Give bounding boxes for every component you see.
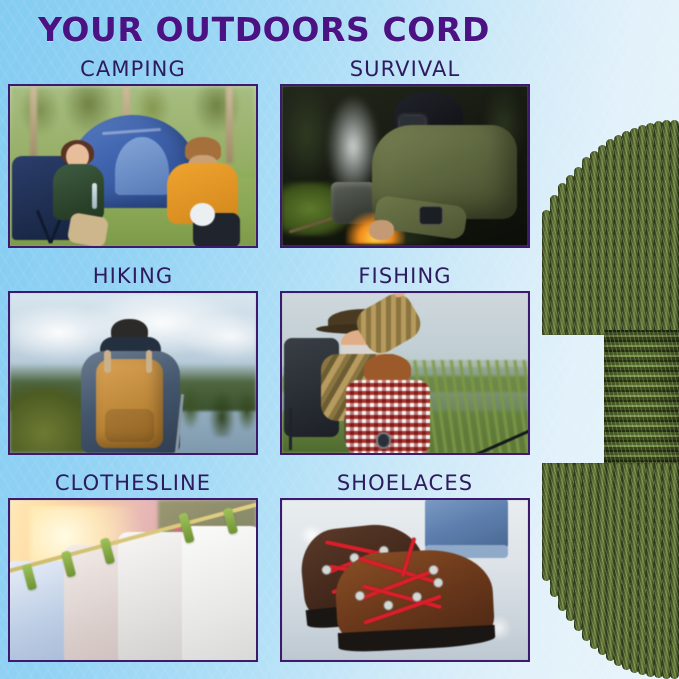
- cord-strands-bottom: [542, 463, 679, 679]
- use-label-camping: CAMPING: [8, 55, 258, 84]
- uses-row: HIKING: [0, 262, 534, 469]
- use-card-fishing: FISHING: [280, 262, 530, 469]
- boot-eyelet: [433, 578, 444, 589]
- survivalist-hand: [369, 220, 394, 240]
- boot-eyelet: [411, 592, 422, 603]
- camp-plate: [190, 203, 215, 227]
- woman-leg: [67, 212, 109, 248]
- photo-fishing: [280, 291, 530, 455]
- boot-eyelet: [355, 591, 366, 602]
- use-label-survival: SURVIVAL: [280, 55, 530, 84]
- backpack-strap: [104, 350, 111, 373]
- bottle: [92, 183, 97, 209]
- uses-row: CAMPING: [0, 55, 534, 262]
- camper-man: [167, 137, 241, 246]
- cord-coil: [604, 330, 679, 467]
- boot-eyelet: [383, 601, 394, 612]
- photo-clothesline: [8, 498, 258, 662]
- survivalist: [366, 92, 523, 242]
- tent-door: [115, 137, 169, 195]
- uses-column: YOUR OUTDOORS CORD CAMPING: [0, 0, 534, 679]
- backpack-strap: [146, 350, 153, 373]
- use-card-clothesline: CLOTHESLINE: [8, 469, 258, 676]
- camper-woman: [49, 144, 108, 243]
- uses-row: CLOTHESLINE: [0, 469, 534, 676]
- paracord-hank: [542, 0, 679, 679]
- boot-eyelet: [429, 565, 440, 576]
- hanging-laundry: [182, 526, 258, 662]
- product-infographic: YOUR OUTDOORS CORD CAMPING: [0, 0, 679, 679]
- cord-strands-top: [542, 120, 679, 335]
- page-title: YOUR OUTDOORS CORD: [0, 10, 528, 49]
- backpack-pocket: [105, 409, 153, 443]
- boy: [346, 354, 430, 453]
- use-card-shoelaces: SHOELACES: [280, 469, 530, 676]
- uses-grid: CAMPING: [0, 55, 534, 676]
- tree-trunk: [30, 86, 37, 163]
- photo-shoelaces: [280, 498, 530, 662]
- folding-chair-leg: [289, 408, 292, 450]
- hiker: [76, 319, 184, 453]
- photo-survival: [280, 84, 530, 248]
- use-label-hiking: HIKING: [8, 262, 258, 291]
- use-card-survival: SURVIVAL: [280, 55, 530, 262]
- hiking-boot: [334, 547, 496, 648]
- fishing-reel: [376, 432, 391, 449]
- photo-hiking: [8, 291, 258, 455]
- photo-camping: [8, 84, 258, 248]
- backpack: [96, 359, 163, 448]
- use-card-hiking: HIKING: [8, 262, 258, 469]
- use-label-shoelaces: SHOELACES: [280, 469, 530, 498]
- use-label-fishing: FISHING: [280, 262, 530, 291]
- tent-pole: [102, 128, 161, 135]
- use-label-clothesline: CLOTHESLINE: [8, 469, 258, 498]
- red-shoelace: [362, 584, 442, 609]
- wristwatch: [419, 206, 443, 225]
- boot-eyelet: [320, 564, 331, 575]
- use-card-camping: CAMPING: [8, 55, 258, 262]
- product-image: [534, 0, 679, 679]
